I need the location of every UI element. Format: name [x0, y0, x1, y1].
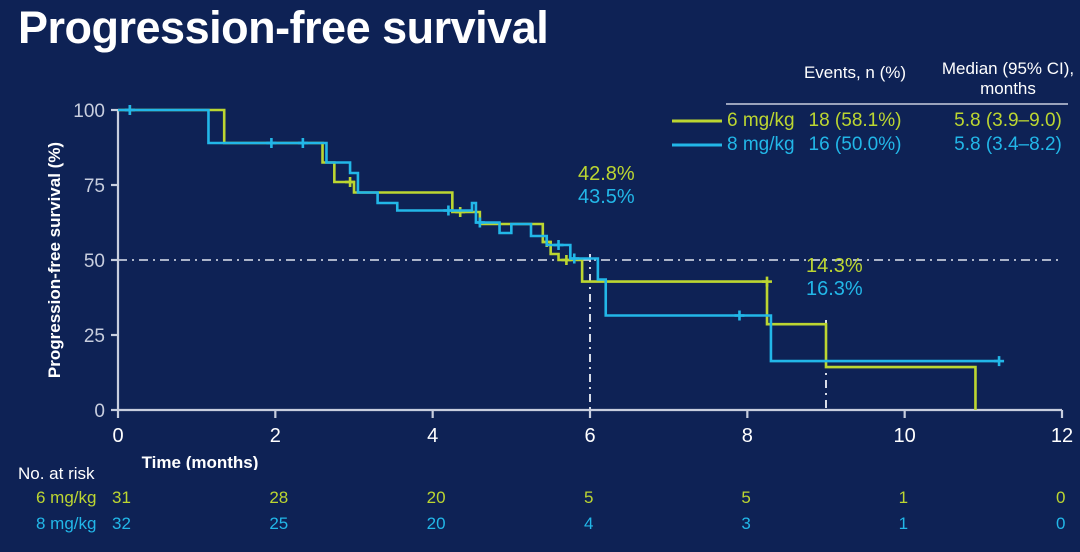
- x-tick-label: 12: [1051, 425, 1073, 447]
- risk-value: 28: [269, 488, 288, 508]
- y-tick-label: 25: [84, 326, 105, 347]
- risk-value: 1: [899, 488, 908, 508]
- risk-value: 1: [899, 514, 908, 534]
- risk-row-label-1: 6 mg/kg: [36, 488, 96, 508]
- x-tick-label: 6: [584, 425, 595, 447]
- x-tick-label: 10: [894, 425, 916, 447]
- legend-col-median: Median (95% CI),: [942, 59, 1074, 78]
- risk-value: 3: [741, 514, 750, 534]
- y-tick-label: 0: [94, 401, 105, 422]
- legend-series-name: 8 mg/kg: [727, 134, 795, 155]
- risk-value: 0: [1056, 488, 1065, 508]
- x-tick-label: 0: [112, 425, 123, 447]
- risk-table-heading: No. at risk: [18, 464, 95, 484]
- risk-value: 32: [112, 514, 131, 534]
- legend-median-value: 5.8 (3.4–8.2): [954, 134, 1062, 155]
- annotation-value: 16.3%: [806, 278, 863, 300]
- annotation-value: 43.5%: [578, 186, 635, 208]
- y-tick-label: 75: [84, 176, 105, 197]
- legend-events-value: 16 (50.0%): [809, 134, 902, 155]
- annotation-value: 14.3%: [806, 255, 863, 277]
- x-tick-label: 4: [427, 425, 438, 447]
- legend-median-value: 5.8 (3.9–9.0): [954, 110, 1062, 131]
- y-axis-label: Progression-free survival (%): [45, 142, 64, 378]
- risk-value: 4: [584, 514, 593, 534]
- legend-events-value: 18 (58.1%): [809, 110, 902, 131]
- annotation-value: 42.8%: [578, 163, 635, 185]
- risk-value: 25: [269, 514, 288, 534]
- x-tick-label: 2: [270, 425, 281, 447]
- km-plot-svg: 0255075100024681012Progression-free surv…: [0, 0, 1080, 470]
- x-tick-label: 8: [742, 425, 753, 447]
- legend-col-events: Events, n (%): [804, 63, 906, 82]
- y-tick-label: 100: [73, 101, 105, 122]
- y-tick-label: 50: [84, 251, 105, 272]
- survival-chart: 0255075100024681012Progression-free surv…: [0, 0, 1080, 470]
- risk-value: 31: [112, 488, 131, 508]
- risk-row-label-2: 8 mg/kg: [36, 514, 96, 534]
- legend-col-median-2: months: [980, 79, 1036, 98]
- risk-value: 20: [427, 514, 446, 534]
- risk-value: 5: [584, 488, 593, 508]
- risk-value: 20: [427, 488, 446, 508]
- risk-value: 0: [1056, 514, 1065, 534]
- risk-value: 5: [741, 488, 750, 508]
- risk-table: No. at risk 6 mg/kg31282055108 mg/kg3225…: [0, 462, 1080, 552]
- legend-series-name: 6 mg/kg: [727, 110, 795, 131]
